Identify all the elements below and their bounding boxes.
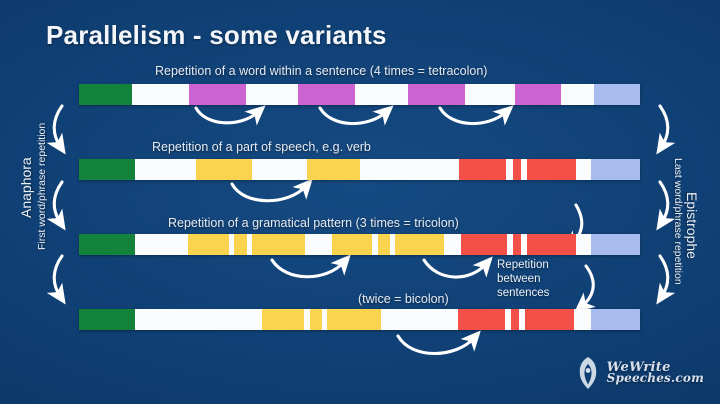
bar-segment-magenta (408, 84, 465, 105)
bar-segment-periwinkle (591, 309, 640, 330)
label-anaphora-subtitle: First word/phrase repetition (36, 123, 48, 250)
bar-segment-yellow (307, 159, 360, 180)
bar-segment-white (132, 84, 189, 105)
bar-segment-white (574, 309, 590, 330)
diagram-bar-row-3 (79, 234, 640, 255)
bar-segment-yellow (327, 309, 381, 330)
row1-loop-2 (320, 108, 386, 124)
epistrophe-arrow-2 (660, 182, 668, 222)
bar-segment-magenta (298, 84, 355, 105)
bar-segment-red (459, 159, 505, 180)
slide-canvas: Parallelism - some variants (0, 0, 720, 404)
bar-segment-yellow (188, 234, 229, 255)
brand-logo[interactable]: WeWrite Speeches.com (576, 356, 704, 390)
bar-segment-red (458, 309, 504, 330)
bar-segment-white (135, 159, 196, 180)
bar-segment-red (513, 159, 522, 180)
bar-segment-white (576, 234, 591, 255)
bar-segment-green (79, 234, 135, 255)
arrow-overlay (0, 0, 720, 404)
bar-segment-yellow (378, 234, 390, 255)
pen-nib-icon (576, 356, 602, 390)
bar-segment-yellow (332, 234, 372, 255)
bar-segment-periwinkle (591, 159, 640, 180)
anaphora-arrow-2 (54, 182, 62, 222)
label-epistrophe: Epistrophe (684, 192, 700, 259)
bar-segment-white (246, 84, 298, 105)
diagram-bar-row-4 (79, 309, 640, 330)
bar-segment-white (305, 234, 332, 255)
bar-segment-yellow (262, 309, 304, 330)
bar-segment-red (461, 234, 507, 255)
row-caption-3: Repetition of a gramatical pattern (3 ti… (168, 216, 459, 230)
bar-segment-white (576, 159, 590, 180)
logo-line-2: Speeches.com (607, 373, 704, 384)
bar-segment-green (79, 84, 132, 105)
row1-loop-1 (196, 108, 258, 123)
bar-segment-white (135, 309, 262, 330)
bar-segment-periwinkle (594, 84, 640, 105)
bar-segment-white (561, 84, 594, 105)
bar-segment-yellow (234, 234, 246, 255)
bar-segment-red (527, 159, 576, 180)
bar-segment-red (527, 234, 576, 255)
bar-segment-white (135, 234, 189, 255)
anaphora-arrow-1 (54, 106, 62, 146)
bar-segment-periwinkle (591, 234, 640, 255)
bar-segment-green (79, 159, 135, 180)
bar-segment-white (444, 234, 461, 255)
bar-segment-yellow (395, 234, 444, 255)
bar-segment-magenta (189, 84, 246, 105)
between-sentences-arrow-bottom (582, 266, 593, 306)
bar-segment-white (360, 159, 459, 180)
bar-segment-green (79, 309, 135, 330)
row2-loop-1 (232, 184, 306, 201)
row-caption-4: (twice = bicolon) (358, 292, 449, 306)
annotation-line-3: sentences (497, 286, 549, 300)
row3-loop-1 (272, 260, 344, 277)
bar-segment-magenta (515, 84, 561, 105)
label-epistrophe-subtitle: Last word/phrase repetition (672, 158, 684, 285)
epistrophe-arrow-3 (660, 256, 668, 296)
page-title: Parallelism - some variants (46, 20, 387, 51)
bar-segment-yellow (252, 234, 305, 255)
row-caption-1: Repetition of a word within a sentence (… (155, 64, 487, 78)
bar-segment-white (506, 159, 513, 180)
label-anaphora: Anaphora (18, 157, 34, 218)
bar-segment-white (465, 84, 515, 105)
bar-segment-red (513, 234, 522, 255)
bar-segment-red (525, 309, 574, 330)
annotation-line-2: between (497, 272, 549, 286)
row-caption-2: Repetition of a part of speech, e.g. ver… (152, 140, 371, 154)
row3-loop-2 (424, 260, 486, 277)
epistrophe-arrow-1 (660, 106, 668, 146)
diagram-bar-row-1 (79, 84, 640, 105)
annotation-repetition-between-sentences: Repetition between sentences (497, 258, 549, 300)
diagram-bar-row-2 (79, 159, 640, 180)
bar-segment-white (355, 84, 407, 105)
row1-loop-3 (440, 108, 506, 124)
annotation-line-1: Repetition (497, 258, 549, 272)
bar-segment-yellow (310, 309, 323, 330)
row4-loop-1 (398, 336, 474, 354)
bar-segment-white (381, 309, 458, 330)
bar-segment-white (252, 159, 307, 180)
bar-segment-red (511, 309, 520, 330)
anaphora-arrow-3 (54, 256, 62, 296)
bar-segment-yellow (196, 159, 252, 180)
